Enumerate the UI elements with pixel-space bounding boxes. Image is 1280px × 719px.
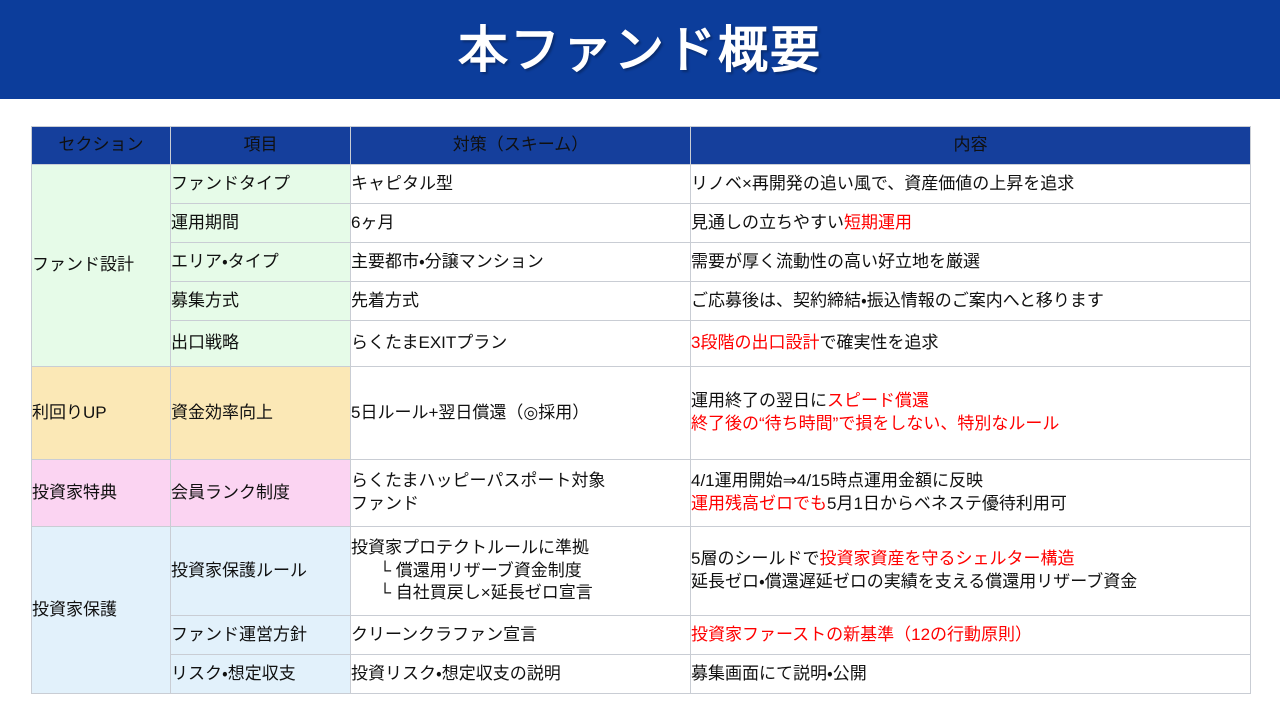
scheme-cell: 投資リスク・想定収支の説明 — [351, 655, 691, 694]
scheme-cell: キャピタル型 — [351, 165, 691, 204]
scheme-line: 投資リスク・想定収支の説明 — [351, 663, 690, 686]
item-cell: リスク・想定収支 — [171, 655, 351, 694]
table-row: エリア・タイプ主要都市・分譲マンション需要が厚く流動性の高い好立地を厳選 — [32, 243, 1251, 282]
table-row: 投資家保護投資家保護ルール投資家プロテクトルールに準拠└ 償還用リザーブ資金制度… — [32, 527, 1251, 616]
content-text: 見通しの立ちやすい — [691, 213, 844, 232]
item-cell: ファンドタイプ — [171, 165, 351, 204]
content-line: ご応募後は、契約締結・振込情報のご案内へと移ります — [691, 290, 1250, 313]
content-text: 運用終了の翌日に — [691, 391, 827, 410]
section-label: ファンド設計 — [32, 255, 134, 274]
highlight-text: スピード償還 — [827, 391, 929, 410]
table-header: セクション 項目 対策（スキーム） 内容 — [32, 127, 1251, 165]
content-cell: 5層のシールドで投資家資産を守るシェルター構造延長ゼロ・償還遅延ゼロの実績を支え… — [691, 527, 1251, 616]
content-line: 募集画面にて説明・公開 — [691, 663, 1250, 686]
content-line: 運用残高ゼロでも5月1日からベネステ優待利用可 — [691, 493, 1250, 516]
content-text: ご応募後は、契約締結・振込情報のご案内へと移ります — [691, 291, 1104, 310]
section-label: 投資家特典 — [32, 483, 117, 502]
scheme-line: 6ヶ月 — [351, 212, 690, 235]
fund-overview-table-wrap: セクション 項目 対策（スキーム） 内容 ファンド設計ファンドタイプキャピタル型… — [31, 126, 1250, 694]
highlight-text: 運用残高ゼロでも — [691, 494, 827, 513]
page-title: 本ファンド概要 — [458, 25, 822, 75]
item-cell: エリア・タイプ — [171, 243, 351, 282]
content-cell: 運用終了の翌日にスピード償還終了後の“待ち時間”で損をしない、特別なルール — [691, 367, 1251, 460]
section-label-cell: 投資家特典 — [32, 460, 171, 527]
content-text: で確実性を追求 — [819, 333, 938, 352]
content-cell: 募集画面にて説明・公開 — [691, 655, 1251, 694]
item-label: ファンドタイプ — [171, 174, 290, 193]
scheme-line: 主要都市・分譲マンション — [351, 251, 690, 274]
scheme-cell: 5日ルール+翌日償還（◎採用） — [351, 367, 691, 460]
scheme-line: └ 自社買戻し×延長ゼロ宣言 — [351, 582, 690, 605]
column-header-scheme: 対策（スキーム） — [351, 127, 691, 165]
content-cell: 4/1運用開始⇒4/15時点運用金額に反映運用残高ゼロでも5月1日からベネステ優… — [691, 460, 1251, 527]
content-text: 延長ゼロ・償還遅延ゼロの実績を支える償還用リザーブ資金 — [691, 572, 1137, 591]
content-line: 4/1運用開始⇒4/15時点運用金額に反映 — [691, 470, 1250, 493]
table-row: 募集方式先着方式ご応募後は、契約締結・振込情報のご案内へと移ります — [32, 282, 1251, 321]
content-text: 5層のシールドで — [691, 549, 819, 568]
content-line: 運用終了の翌日にスピード償還 — [691, 390, 1250, 413]
item-label: エリア・タイプ — [171, 252, 279, 271]
content-line: 需要が厚く流動性の高い好立地を厳選 — [691, 251, 1250, 274]
content-cell: ご応募後は、契約締結・振込情報のご案内へと移ります — [691, 282, 1251, 321]
content-cell: 需要が厚く流動性の高い好立地を厳選 — [691, 243, 1251, 282]
table-row: 利回りUP資金効率向上5日ルール+翌日償還（◎採用）運用終了の翌日にスピード償還… — [32, 367, 1251, 460]
section-label: 利回りUP — [32, 403, 107, 422]
column-header-section: セクション — [32, 127, 171, 165]
content-line: 3段階の出口設計で確実性を追求 — [691, 332, 1250, 355]
scheme-cell: らくたまEXITプラン — [351, 321, 691, 367]
scheme-cell: らくたまハッピーパスポート対象ファンド — [351, 460, 691, 527]
content-text: リノベ×再開発の追い風で、資産価値の上昇を追求 — [691, 174, 1074, 193]
item-label: 募集方式 — [171, 291, 239, 310]
item-label: 会員ランク制度 — [171, 483, 290, 502]
content-line: リノベ×再開発の追い風で、資産価値の上昇を追求 — [691, 173, 1250, 196]
content-line: 5層のシールドで投資家資産を守るシェルター構造 — [691, 548, 1250, 571]
scheme-line: 5日ルール+翌日償還（◎採用） — [351, 402, 690, 425]
table-row: ファンド設計ファンドタイプキャピタル型リノベ×再開発の追い風で、資産価値の上昇を… — [32, 165, 1251, 204]
highlight-text: 投資家ファーストの新基準（12の行動原則） — [691, 625, 1032, 644]
scheme-line: └ 償還用リザーブ資金制度 — [351, 560, 690, 583]
content-text: 5月1日からベネステ優待利用可 — [827, 494, 1067, 513]
section-label-cell: 利回りUP — [32, 367, 171, 460]
section-label-cell: 投資家保護 — [32, 527, 171, 694]
table-row: 出口戦略らくたまEXITプラン3段階の出口設計で確実性を追求 — [32, 321, 1251, 367]
item-cell: ファンド運営方針 — [171, 616, 351, 655]
content-cell: 投資家ファーストの新基準（12の行動原則） — [691, 616, 1251, 655]
highlight-text: 短期運用 — [844, 213, 912, 232]
content-cell: 見通しの立ちやすい短期運用 — [691, 204, 1251, 243]
table-row: 運用期間6ヶ月見通しの立ちやすい短期運用 — [32, 204, 1251, 243]
section-label: 投資家保護 — [32, 600, 117, 619]
content-line: 見通しの立ちやすい短期運用 — [691, 212, 1250, 235]
item-label: 出口戦略 — [171, 333, 239, 352]
fund-overview-table: セクション 項目 対策（スキーム） 内容 ファンド設計ファンドタイプキャピタル型… — [31, 126, 1251, 694]
table-body: ファンド設計ファンドタイプキャピタル型リノベ×再開発の追い風で、資産価値の上昇を… — [32, 165, 1251, 694]
item-label: 資金効率向上 — [171, 403, 273, 422]
item-cell: 運用期間 — [171, 204, 351, 243]
scheme-cell: クリーンクラファン宣言 — [351, 616, 691, 655]
item-cell: 投資家保護ルール — [171, 527, 351, 616]
table-row: リスク・想定収支投資リスク・想定収支の説明募集画面にて説明・公開 — [32, 655, 1251, 694]
content-line: 延長ゼロ・償還遅延ゼロの実績を支える償還用リザーブ資金 — [691, 571, 1250, 594]
item-cell: 募集方式 — [171, 282, 351, 321]
content-cell: リノベ×再開発の追い風で、資産価値の上昇を追求 — [691, 165, 1251, 204]
highlight-text: 終了後の“待ち時間”で損をしない、特別なルール — [691, 414, 1059, 433]
scheme-cell: 投資家プロテクトルールに準拠└ 償還用リザーブ資金制度└ 自社買戻し×延長ゼロ宣… — [351, 527, 691, 616]
slide-root: 本ファンド概要 セクション 項目 対策（スキーム） 内容 ファンド設計ファンドタ… — [0, 0, 1280, 719]
section-label-cell: ファンド設計 — [32, 165, 171, 367]
scheme-cell: 6ヶ月 — [351, 204, 691, 243]
content-line: 投資家ファーストの新基準（12の行動原則） — [691, 624, 1250, 647]
scheme-line: 先着方式 — [351, 290, 690, 313]
table-row: ファンド運営方針クリーンクラファン宣言投資家ファーストの新基準（12の行動原則） — [32, 616, 1251, 655]
scheme-cell: 主要都市・分譲マンション — [351, 243, 691, 282]
scheme-line: らくたまEXITプラン — [351, 332, 690, 355]
item-label: 投資家保護ルール — [171, 561, 307, 580]
item-cell: 会員ランク制度 — [171, 460, 351, 527]
slide-title-banner: 本ファンド概要 — [0, 0, 1280, 99]
item-cell: 出口戦略 — [171, 321, 351, 367]
scheme-line: らくたまハッピーパスポート対象 — [351, 470, 690, 493]
scheme-line: 投資家プロテクトルールに準拠 — [351, 537, 690, 560]
table-row: 投資家特典会員ランク制度らくたまハッピーパスポート対象ファンド4/1運用開始⇒4… — [32, 460, 1251, 527]
table-header-row: セクション 項目 対策（スキーム） 内容 — [32, 127, 1251, 165]
item-label: ファンド運営方針 — [171, 625, 307, 644]
item-cell: 資金効率向上 — [171, 367, 351, 460]
scheme-cell: 先着方式 — [351, 282, 691, 321]
content-line: 終了後の“待ち時間”で損をしない、特別なルール — [691, 413, 1250, 436]
content-text: 4/1運用開始⇒4/15時点運用金額に反映 — [691, 471, 983, 490]
column-header-item: 項目 — [171, 127, 351, 165]
highlight-text: 3段階の出口設計 — [691, 333, 819, 352]
content-text: 需要が厚く流動性の高い好立地を厳選 — [691, 252, 980, 271]
item-label: 運用期間 — [171, 213, 239, 232]
highlight-text: 投資家資産を守るシェルター構造 — [819, 549, 1074, 568]
scheme-line: クリーンクラファン宣言 — [351, 624, 690, 647]
column-header-content: 内容 — [691, 127, 1251, 165]
content-text: 募集画面にて説明・公開 — [691, 664, 867, 683]
scheme-line: キャピタル型 — [351, 173, 690, 196]
content-cell: 3段階の出口設計で確実性を追求 — [691, 321, 1251, 367]
item-label: リスク・想定収支 — [171, 664, 296, 683]
scheme-line: ファンド — [351, 493, 690, 516]
